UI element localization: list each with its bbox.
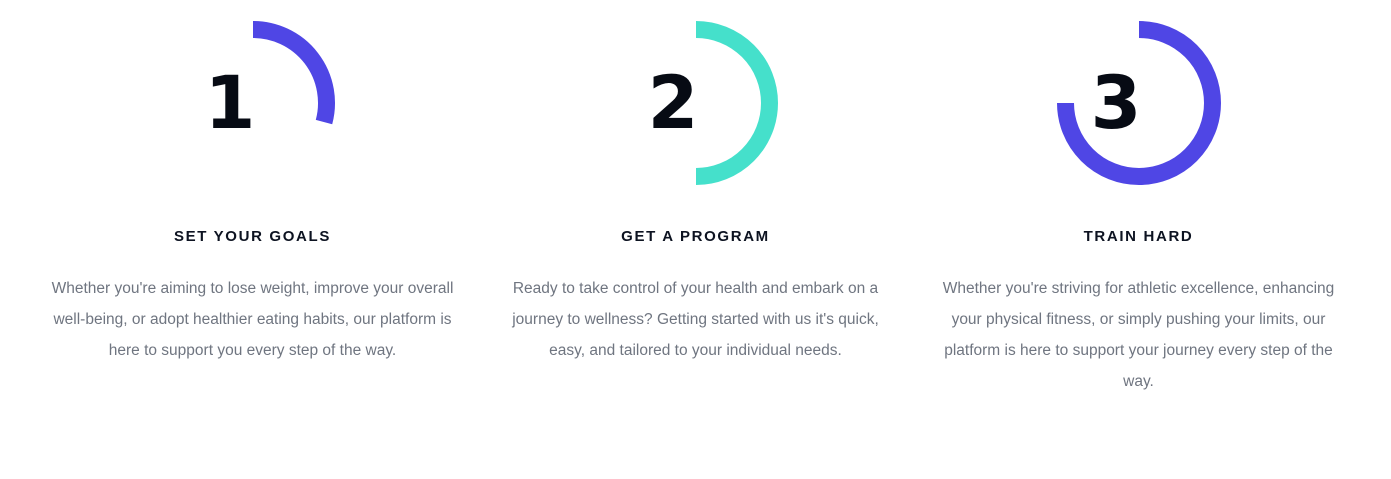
step-card: 1 SET YOUR GOALS Whether you're aiming t… (31, 8, 474, 366)
step-number: 1 (162, 8, 344, 198)
step-description: Ready to take control of your health and… (498, 273, 894, 366)
step-badge: 3 (1048, 8, 1230, 198)
step-number: 3 (1048, 8, 1230, 198)
step-title: SET YOUR GOALS (174, 228, 331, 246)
how-it-works-section: 1 SET YOUR GOALS Whether you're aiming t… (0, 0, 1391, 479)
step-number: 2 (605, 8, 787, 198)
step-card: 3 TRAIN HARD Whether you're striving for… (917, 8, 1360, 397)
step-badge: 2 (605, 8, 787, 198)
step-badge: 1 (162, 8, 344, 198)
step-card: 2 GET A PROGRAM Ready to take control of… (474, 8, 917, 366)
step-title: GET A PROGRAM (621, 228, 770, 246)
step-description: Whether you're striving for athletic exc… (929, 273, 1349, 397)
step-description: Whether you're aiming to lose weight, im… (52, 273, 454, 366)
step-title: TRAIN HARD (1084, 228, 1194, 246)
